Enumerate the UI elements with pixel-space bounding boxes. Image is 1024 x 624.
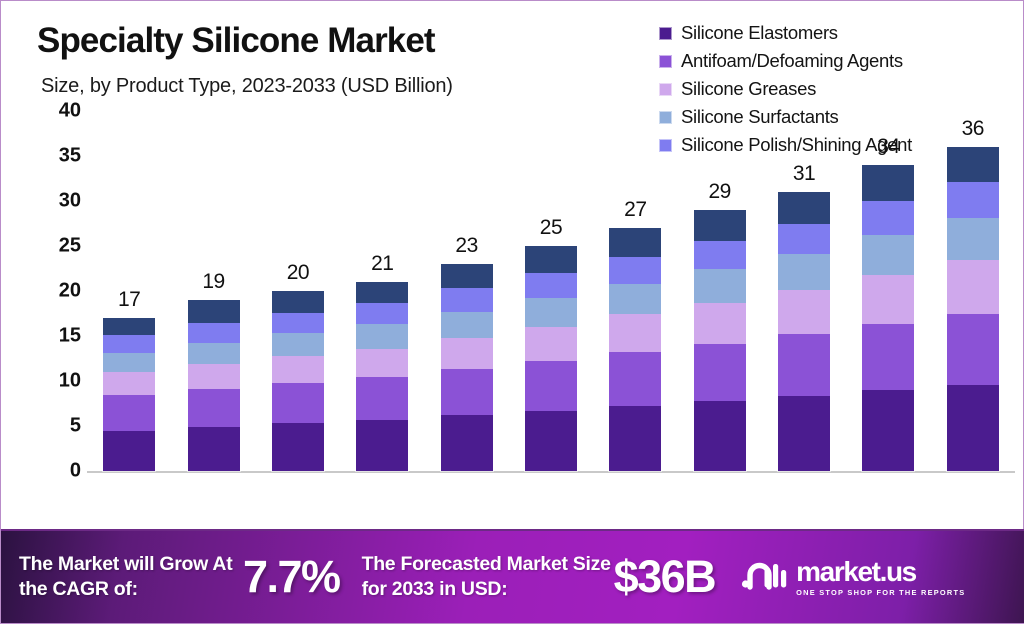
bar-segment[interactable] (272, 356, 324, 383)
bar-column[interactable]: 36 (931, 111, 1015, 471)
bar-value-label: 29 (678, 180, 762, 204)
page-title: Specialty Silicone Market (37, 21, 435, 61)
legend-item[interactable]: Silicone Elastomers (659, 19, 912, 47)
bar-segment[interactable] (862, 235, 914, 275)
infographic-chart-page: Specialty Silicone Market Size, by Produ… (0, 0, 1024, 624)
bar-column[interactable]: 31 (762, 111, 846, 471)
y-axis-tick: 40 (29, 100, 81, 123)
bar-segment[interactable] (947, 314, 999, 385)
bar-segment[interactable] (188, 427, 240, 471)
bar-segment[interactable] (609, 406, 661, 471)
bar-segment[interactable] (441, 415, 493, 471)
market-us-logo[interactable]: market.us ONE STOP SHOP FOR THE REPORTS (741, 558, 965, 597)
bar-segment[interactable] (947, 260, 999, 313)
footer-banner: The Market will Grow At the CAGR of: 7.7… (1, 529, 1024, 623)
y-axis-tick: 5 (29, 415, 81, 438)
bar-segment[interactable] (272, 423, 324, 471)
legend-item-label: Antifoam/Defoaming Agents (681, 50, 903, 72)
bar-segment[interactable] (862, 324, 914, 390)
bar-segment[interactable] (694, 344, 746, 401)
bar-value-label: 19 (172, 270, 256, 294)
bar-segment[interactable] (188, 300, 240, 323)
bar-segment[interactable] (441, 264, 493, 288)
bar-segment[interactable] (609, 257, 661, 284)
stacked-bar[interactable] (272, 291, 324, 471)
bar-segment[interactable] (525, 273, 577, 298)
bar-segment[interactable] (609, 284, 661, 315)
bar-segment[interactable] (356, 420, 408, 471)
bar-segment[interactable] (947, 385, 999, 471)
bar-group: 1719202123252729313436 (87, 111, 1015, 471)
bar-segment[interactable] (862, 201, 914, 235)
legend-item[interactable]: Antifoam/Defoaming Agents (659, 47, 912, 75)
bar-segment[interactable] (862, 275, 914, 325)
bar-segment[interactable] (525, 411, 577, 471)
y-axis-tick: 20 (29, 280, 81, 303)
stacked-bar[interactable] (441, 264, 493, 471)
bar-segment[interactable] (694, 269, 746, 302)
bar-column[interactable]: 21 (340, 111, 424, 471)
bar-segment[interactable] (862, 165, 914, 201)
bar-segment[interactable] (272, 313, 324, 334)
bar-segment[interactable] (778, 192, 830, 224)
bar-segment[interactable] (525, 246, 577, 273)
bar-segment[interactable] (778, 290, 830, 334)
y-axis-tick: 0 (29, 460, 81, 483)
bar-segment[interactable] (694, 303, 746, 344)
bar-column[interactable]: 29 (678, 111, 762, 471)
stacked-bar[interactable] (609, 228, 661, 471)
stacked-bar[interactable] (356, 282, 408, 471)
bar-segment[interactable] (103, 431, 155, 472)
bar-segment[interactable] (862, 390, 914, 471)
bar-segment[interactable] (103, 372, 155, 395)
bar-segment[interactable] (356, 282, 408, 303)
bar-value-label: 31 (762, 162, 846, 186)
bar-segment[interactable] (778, 396, 830, 471)
forecast-size-label: The Forecasted Market Size for 2033 in U… (362, 552, 612, 602)
bar-value-label: 36 (931, 117, 1015, 141)
bar-segment[interactable] (609, 352, 661, 406)
bar-segment[interactable] (188, 343, 240, 364)
bar-value-label: 20 (256, 261, 340, 285)
bar-segment[interactable] (188, 389, 240, 427)
bar-segment[interactable] (103, 318, 155, 335)
bar-segment[interactable] (609, 228, 661, 257)
bar-column[interactable]: 17 (87, 111, 171, 471)
legend-item-label: Silicone Elastomers (681, 22, 838, 44)
bar-value-label: 23 (425, 234, 509, 258)
market-us-logo-icon (741, 560, 787, 595)
stacked-bar[interactable] (947, 147, 999, 471)
bar-segment[interactable] (947, 218, 999, 260)
legend-item[interactable]: Silicone Greases (659, 75, 912, 103)
bar-value-label: 21 (340, 252, 424, 276)
bar-segment[interactable] (356, 324, 408, 348)
bar-value-label: 17 (87, 288, 171, 312)
page-subtitle: Size, by Product Type, 2023-2033 (USD Bi… (41, 75, 453, 98)
bar-segment[interactable] (609, 314, 661, 352)
stacked-bar[interactable] (778, 192, 830, 471)
bar-segment[interactable] (694, 210, 746, 241)
bar-segment[interactable] (441, 369, 493, 415)
y-axis-tick: 25 (29, 235, 81, 258)
bar-segment[interactable] (694, 241, 746, 270)
bar-segment[interactable] (272, 383, 324, 424)
bar-value-label: 34 (846, 135, 930, 159)
stacked-bar[interactable] (103, 318, 155, 471)
y-axis-tick: 35 (29, 145, 81, 168)
bar-segment[interactable] (188, 364, 240, 389)
forecast-size-value: $36B (614, 551, 716, 603)
bar-segment[interactable] (103, 395, 155, 431)
bar-value-label: 25 (509, 216, 593, 240)
legend-swatch-icon (659, 27, 672, 40)
bar-segment[interactable] (525, 327, 577, 361)
bar-segment[interactable] (778, 254, 830, 290)
bar-segment[interactable] (356, 377, 408, 419)
bar-segment[interactable] (947, 147, 999, 182)
bar-segment[interactable] (947, 182, 999, 218)
y-axis-tick: 10 (29, 370, 81, 393)
bar-segment[interactable] (356, 349, 408, 378)
bar-column[interactable]: 34 (846, 111, 930, 471)
y-axis-tick: 30 (29, 190, 81, 213)
bar-segment[interactable] (441, 288, 493, 311)
stacked-bar[interactable] (862, 165, 914, 471)
stacked-bar[interactable] (525, 246, 577, 471)
x-axis-line (87, 471, 1015, 473)
bar-segment[interactable] (356, 303, 408, 325)
bar-segment[interactable] (694, 401, 746, 471)
logo-tagline: ONE STOP SHOP FOR THE REPORTS (796, 588, 965, 597)
cagr-value: 7.7% (243, 551, 340, 603)
bar-column[interactable]: 25 (509, 111, 593, 471)
stacked-bar[interactable] (694, 210, 746, 471)
bar-column[interactable]: 20 (256, 111, 340, 471)
bar-segment[interactable] (525, 361, 577, 411)
y-axis-tick: 15 (29, 325, 81, 348)
bar-segment[interactable] (272, 333, 324, 356)
legend-item-label: Silicone Greases (681, 78, 816, 100)
bar-segment[interactable] (778, 334, 830, 396)
bar-segment[interactable] (441, 338, 493, 370)
bar-segment[interactable] (525, 298, 577, 327)
bar-segment[interactable] (272, 291, 324, 313)
bar-value-label: 27 (593, 198, 677, 222)
chart-plot-area: 0510152025303540 1719202123252729313436 … (1, 111, 1024, 526)
bar-segment[interactable] (441, 312, 493, 338)
bar-column[interactable]: 19 (172, 111, 256, 471)
bar-segment[interactable] (188, 323, 240, 343)
bar-segment[interactable] (778, 224, 830, 255)
bar-column[interactable]: 27 (593, 111, 677, 471)
logo-name: market.us (796, 558, 965, 586)
stacked-bar[interactable] (188, 300, 240, 471)
bar-segment[interactable] (103, 335, 155, 353)
y-axis: 0510152025303540 (29, 111, 81, 479)
legend-swatch-icon (659, 83, 672, 96)
cagr-label: The Market will Grow At the CAGR of: (19, 552, 237, 602)
bar-column[interactable]: 23 (425, 111, 509, 471)
legend-swatch-icon (659, 55, 672, 68)
bar-segment[interactable] (103, 353, 155, 372)
